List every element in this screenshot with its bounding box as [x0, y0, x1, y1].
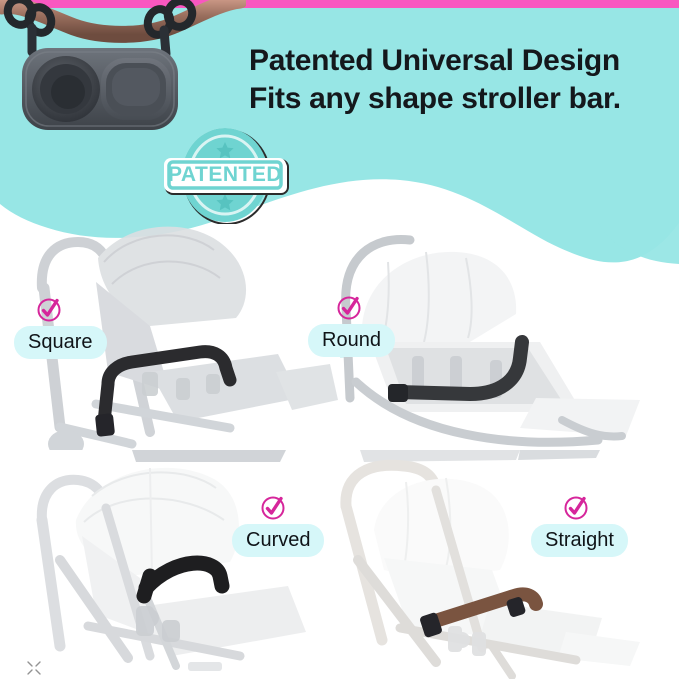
panel-label-curved: Curved	[232, 524, 324, 557]
panel-label-straight: Straight	[531, 524, 628, 557]
headline-line-1: Patented Universal Design	[249, 44, 620, 77]
stroller-compatibility-grid	[0, 222, 679, 679]
stroller-organizer-image	[0, 0, 246, 145]
panel-label-square: Square	[14, 326, 107, 359]
circled-check-icon	[36, 296, 62, 322]
circled-check-icon	[260, 494, 286, 520]
product-image-canvas: Patented Universal Design Fits any shape…	[0, 0, 679, 679]
expand-fullscreen-icon[interactable]	[27, 661, 41, 675]
circled-check-icon	[336, 294, 362, 320]
marker-square: Square	[14, 296, 107, 359]
panel-curved	[0, 450, 340, 679]
circled-check-icon	[563, 494, 589, 520]
marker-straight: Straight	[531, 494, 628, 557]
panel-straight	[340, 450, 679, 679]
patented-badge: PATENTED	[157, 126, 293, 224]
marker-curved: Curved	[232, 494, 324, 557]
badge-label: PATENTED	[168, 163, 282, 186]
marker-round: Round	[308, 294, 395, 357]
headline: Patented Universal Design Fits any shape…	[249, 42, 669, 118]
headline-line-2: Fits any shape stroller bar.	[249, 80, 669, 118]
panel-label-round: Round	[308, 324, 395, 357]
